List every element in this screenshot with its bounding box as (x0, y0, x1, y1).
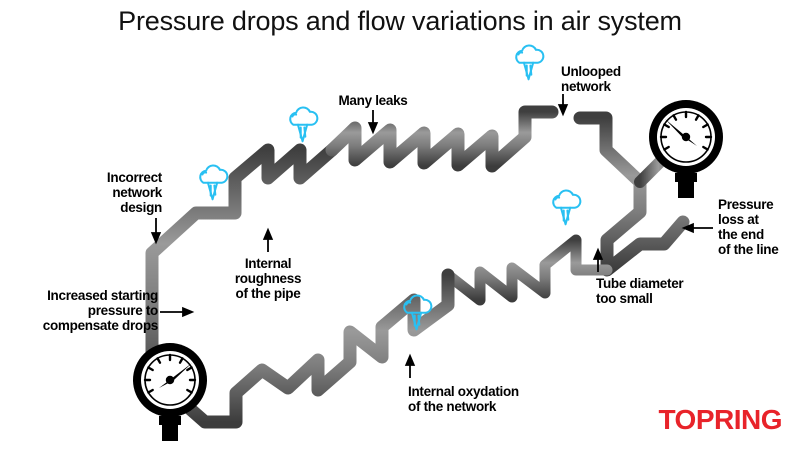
infographic-canvas: Pressure drops and flow variations in ai… (0, 0, 800, 450)
pipe-network-diagram (0, 0, 800, 450)
leader-increased-starting-pressure (160, 308, 192, 316)
topring-logo: TOPRING (658, 404, 782, 436)
label-internal-roughness: Internal roughness of the pipe (218, 256, 318, 301)
label-increased-starting-pressure: Increased starting pressure to compensat… (10, 288, 158, 333)
label-many-leaks: Many leaks (321, 93, 425, 108)
pipe-segment-top-run (332, 112, 552, 166)
leak-cloud-icon (516, 45, 543, 79)
leader-internal-oxydation (406, 356, 414, 378)
gauge-inlet (133, 343, 207, 441)
leader-many-leaks (369, 110, 377, 132)
label-unlooped-network: Unlooped network (561, 64, 651, 94)
gauge-outlet (649, 100, 723, 198)
label-incorrect-network-design: Incorrect network design (62, 170, 162, 215)
label-internal-oxydation: Internal oxydation of the network (408, 384, 568, 414)
leader-unlooped-network (559, 94, 567, 114)
leader-internal-roughness (264, 230, 272, 252)
leader-pressure-loss (684, 224, 713, 232)
label-tube-diameter-too-small: Tube diameter too small (596, 276, 716, 306)
leak-cloud-icon (290, 107, 317, 141)
label-pressure-loss-end-of-line: Pressure loss at the end of the line (718, 197, 800, 257)
pipe-segment-bottom-right-zigzag (448, 240, 607, 300)
leak-cloud-icon (200, 165, 227, 199)
leak-cloud-icon (553, 190, 580, 224)
